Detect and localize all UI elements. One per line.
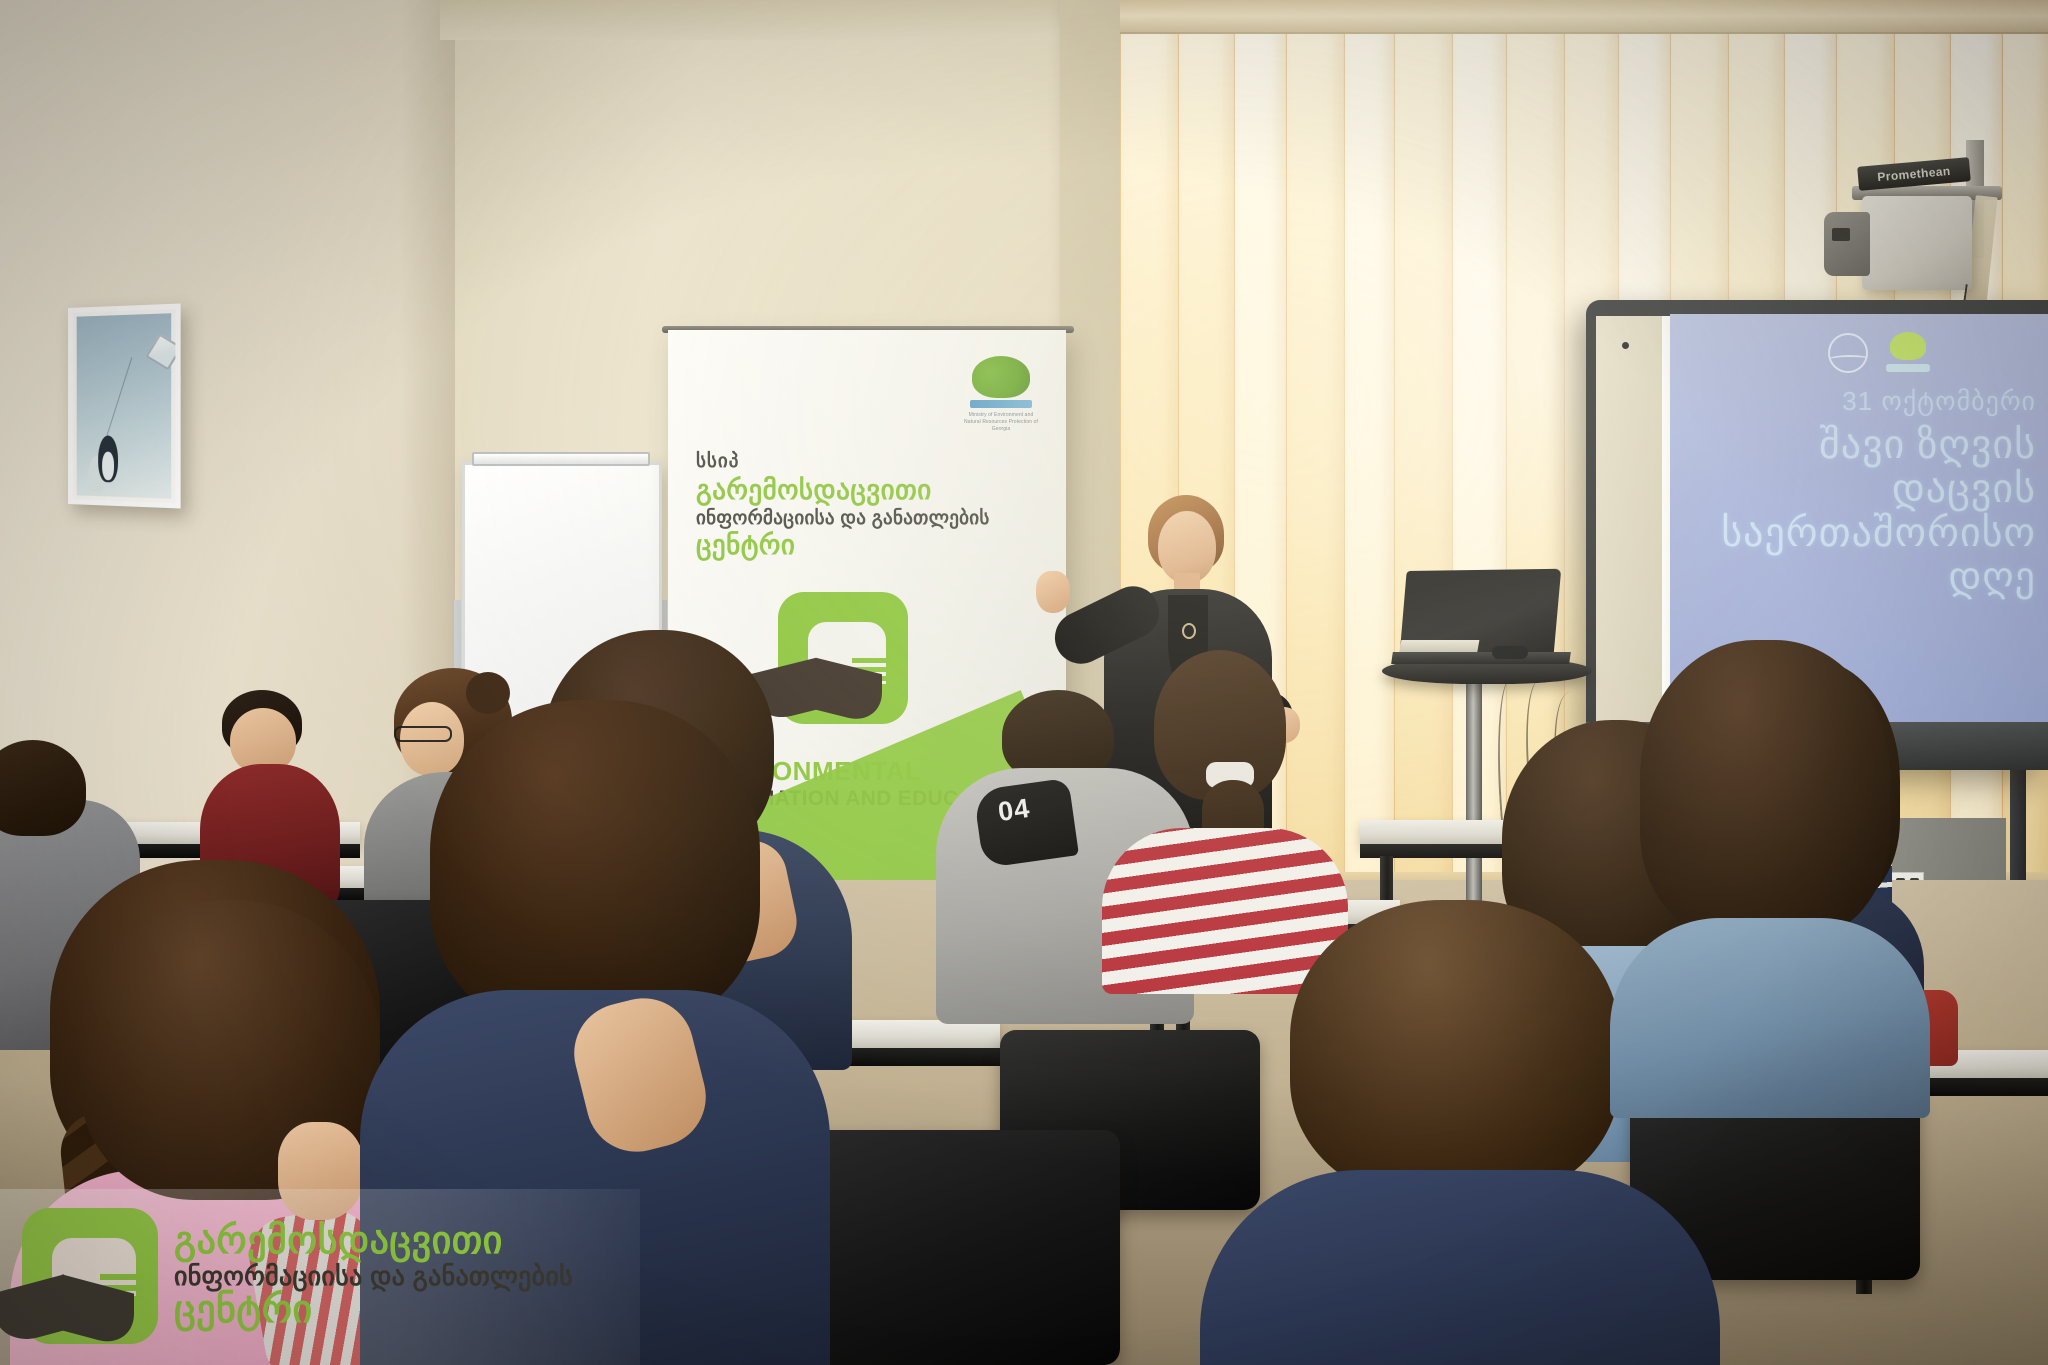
slide-line-4: დღე xyxy=(1670,555,2036,599)
watermark-line-2: ინფორმაციისა და განათლების xyxy=(174,1263,573,1290)
penguin-belly xyxy=(102,452,114,481)
presenter-necklace xyxy=(1182,623,1196,639)
watermark-text: გარემოსდაცვითი ინფორმაციისა და განათლები… xyxy=(174,1222,573,1330)
banner-geo-line-1: გარემოსდაცვითი xyxy=(696,475,1026,506)
student-body xyxy=(1200,1170,1720,1365)
slide-text-block: 31 ოქტომბერი შავი ზღვის დაცვის საერთაშორ… xyxy=(1670,386,2042,599)
student-hair xyxy=(430,700,760,1030)
classroom-photo: Promethean 31 ოქტომბერი xyxy=(0,0,2048,1365)
student-hair xyxy=(0,740,86,836)
presenter-raised-hand xyxy=(1036,571,1070,613)
water-circle-icon xyxy=(1828,333,1868,373)
whiteboard-status-led xyxy=(1622,342,1629,349)
student-hair xyxy=(1640,640,1890,940)
eiec-watermark: გარემოსდაცვითი ინფორმაციისა და განათლები… xyxy=(0,1189,640,1365)
slide-line-3: საერთაშორისო xyxy=(1670,511,2036,555)
slide-line-2: დაცვის xyxy=(1670,467,2036,511)
banner-geo-line-2: ინფორმაციისა და განათლების xyxy=(696,507,1026,530)
slide-line-1: შავი ზღვის xyxy=(1670,423,2036,467)
flipchart-paper-clamp[interactable] xyxy=(472,452,650,466)
projector-body[interactable] xyxy=(1862,196,1972,290)
ministry-water-icon xyxy=(970,400,1032,408)
ministry-tree-icon xyxy=(972,356,1030,398)
ministry-logo: Ministry of Environment and Natural Reso… xyxy=(964,356,1038,434)
laptop-keyboard-base[interactable] xyxy=(1391,652,1571,664)
framed-penguin-poster xyxy=(68,303,181,508)
blinds-headrail[interactable] xyxy=(1120,0,2048,34)
banner-title-block: სსიპ გარემოსდაცვითი ინფორმაციისა და განა… xyxy=(696,450,1026,561)
ceiling-soffit xyxy=(440,0,1140,40)
remote-clicker[interactable] xyxy=(1492,646,1528,659)
student-girl-right-foreground xyxy=(1620,640,1920,1100)
projector-lens xyxy=(1832,228,1850,241)
ministry-caption: Ministry of Environment and Natural Reso… xyxy=(964,412,1038,433)
projector-lens-housing xyxy=(1824,212,1870,276)
watermark-logo xyxy=(22,1208,158,1344)
watermark-line-1: გარემოსდაცვითი xyxy=(174,1222,573,1261)
tree-icon xyxy=(1886,332,1930,374)
watermark-line-3: ცენტრი xyxy=(174,1291,573,1330)
banner-ssip-label: სსიპ xyxy=(696,450,1026,473)
student-hair xyxy=(1290,900,1620,1200)
slide-date: 31 ოქტომბერი xyxy=(1670,386,2036,417)
banner-geo-line-3: ცენტრი xyxy=(696,530,1026,561)
slide-logo-row xyxy=(1828,332,1930,374)
student-body xyxy=(1610,918,1930,1118)
hoodie-number-graphic: 04 xyxy=(996,791,1046,827)
poster-artwork xyxy=(77,313,172,499)
